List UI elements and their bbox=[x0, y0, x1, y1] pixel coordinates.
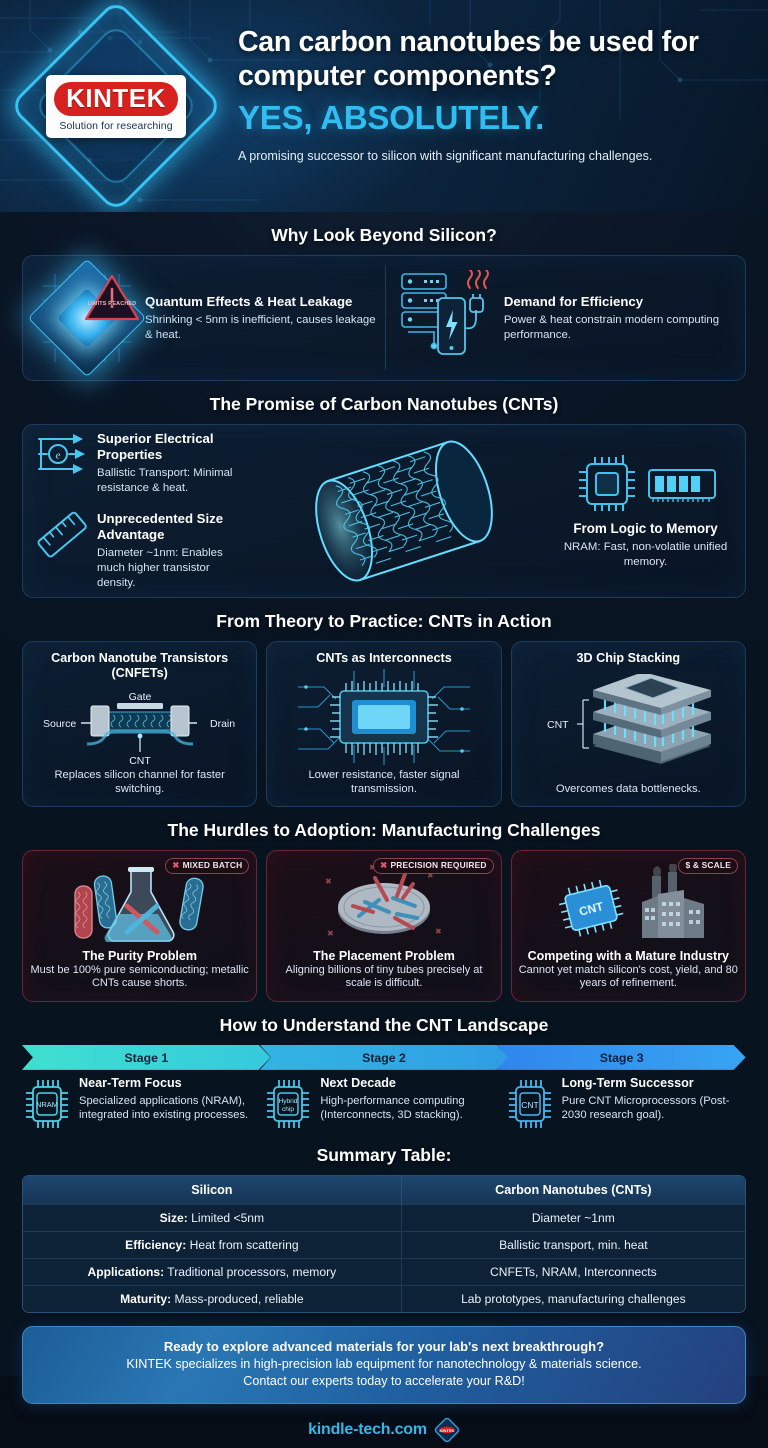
action-stacking-heading: 3D Chip Stacking bbox=[577, 651, 681, 666]
cnfet-label-cnt: CNT bbox=[129, 755, 151, 767]
infographic-page: KINTEK Solution for researching Can carb… bbox=[0, 0, 768, 1376]
flask-and-tubes-icon bbox=[65, 864, 215, 942]
nanotube-3d-render bbox=[289, 436, 519, 586]
hurdle-mature-heading: Competing with a Mature Industry bbox=[528, 949, 729, 964]
hurdle-placement-heading: The Placement Problem bbox=[313, 949, 455, 964]
stage-2-heading: Next Decade bbox=[320, 1076, 497, 1091]
hurdle-card-placement: ✖ PRECISION REQUIRED ✖✖ ✖✖ ✖ bbox=[266, 850, 501, 1002]
svg-text:✖: ✖ bbox=[325, 877, 332, 886]
promise-memory-heading: From Logic to Memory bbox=[558, 521, 733, 537]
stage-2-chip-text-line2: chip bbox=[282, 1106, 294, 1113]
row-value: Traditional processors, memory bbox=[164, 1265, 336, 1279]
why-efficiency-heading: Demand for Efficiency bbox=[504, 294, 733, 310]
hurdle-card-purity: ✖ MIXED BATCH bbox=[22, 850, 257, 1002]
badge-x-icon: ✖ bbox=[380, 861, 387, 871]
table-cell-cnt: CNFETs, NRAM, Interconnects bbox=[401, 1259, 745, 1286]
why-quantum-heading: Quantum Effects & Heat Leakage bbox=[145, 294, 385, 310]
cta-line-1: Ready to explore advanced materials for … bbox=[37, 1338, 731, 1356]
stage-arrow-2: Stage 2 bbox=[260, 1045, 509, 1070]
hurdle-mature-body: Cannot yet match silicon's cost, yield, … bbox=[519, 964, 738, 992]
chip-interconnect-diagram-icon bbox=[294, 667, 474, 767]
kintek-diamond-mark-icon: KINTEK bbox=[434, 1417, 460, 1443]
table-col-silicon: Silicon bbox=[23, 1176, 401, 1205]
hurdle-purity-heading: The Purity Problem bbox=[82, 949, 197, 964]
promise-item-size: Unprecedented Size Advantage Diameter ~1… bbox=[35, 511, 250, 591]
action-stacking-body: Overcomes data bottlenecks. bbox=[556, 782, 701, 796]
svg-text:KINTEK: KINTEK bbox=[439, 1428, 454, 1433]
logo-name: KINTEK bbox=[54, 82, 178, 116]
cpu-and-memory-module-icon bbox=[571, 452, 721, 516]
stages-timeline: Stage 1 Stage 2 Stage 3 bbox=[22, 1045, 746, 1132]
table-cell-silicon: Applications: Traditional processors, me… bbox=[23, 1259, 401, 1286]
action-card-row: Carbon Nanotube Transistors (CNFETs) Sou… bbox=[22, 641, 746, 807]
table-header-row: Silicon Carbon Nanotubes (CNTs) bbox=[23, 1176, 745, 1205]
hurdles-card-row: ✖ MIXED BATCH bbox=[22, 850, 746, 1002]
why-card: LIMITS REACHED Quantum Effects & Heat Le… bbox=[22, 255, 746, 381]
summary-table: Silicon Carbon Nanotubes (CNTs) Size: Li… bbox=[22, 1175, 746, 1313]
row-value: Mass-produced, reliable bbox=[171, 1292, 303, 1306]
chip-and-factory-icon: CNT bbox=[546, 864, 711, 942]
table-row: Applications: Traditional processors, me… bbox=[23, 1259, 745, 1286]
section-title-landscape: How to Understand the CNT Landscape bbox=[0, 1015, 768, 1036]
stage-item-2: Hybrid chip Next Decade High-performance… bbox=[263, 1076, 504, 1132]
header-answer: YES, ABSOLUTELY. bbox=[238, 99, 746, 138]
electron-flow-icon: e bbox=[35, 431, 89, 477]
badge-x-icon: ✖ bbox=[172, 861, 179, 871]
row-label: Size: bbox=[160, 1211, 188, 1225]
badge-label: $ & SCALE bbox=[685, 861, 731, 871]
cnt-chip-icon: CNT bbox=[505, 1076, 555, 1132]
section-title-action: From Theory to Practice: CNTs in Action bbox=[0, 611, 768, 632]
stage-1-label: Stage 1 bbox=[124, 1051, 168, 1065]
cnfet-label-source: Source bbox=[43, 718, 76, 730]
table-col-cnt: Carbon Nanotubes (CNTs) bbox=[401, 1176, 745, 1205]
action-card-cnfet: Carbon Nanotube Transistors (CNFETs) Sou… bbox=[22, 641, 257, 807]
cnfet-label-gate: Gate bbox=[128, 691, 151, 703]
why-item-efficiency: Demand for Efficiency Power & heat const… bbox=[385, 266, 733, 370]
stage-1-heading: Near-Term Focus bbox=[79, 1076, 256, 1091]
hurdle-placement-body: Aligning billions of tiny tubes precisel… bbox=[274, 964, 493, 992]
footer: kindle-tech.com KINTEK bbox=[0, 1417, 768, 1443]
hurdle-badge-cost-scale: $ & SCALE bbox=[678, 858, 738, 874]
stage-2-label: Stage 2 bbox=[362, 1051, 406, 1065]
stage-arrow-3: Stage 3 bbox=[497, 1045, 746, 1070]
nram-chip-icon: NRAM bbox=[22, 1076, 72, 1132]
stacking-label-cnt: CNT bbox=[547, 719, 569, 731]
cta-banner[interactable]: Ready to explore advanced materials for … bbox=[22, 1326, 746, 1404]
stage-item-1: NRAM Near-Term Focus Specialized applica… bbox=[22, 1076, 263, 1132]
section-title-hurdles: The Hurdles to Adoption: Manufacturing C… bbox=[0, 820, 768, 841]
kintek-logo: KINTEK Solution for researching bbox=[46, 75, 186, 138]
header-banner: KINTEK Solution for researching Can carb… bbox=[0, 0, 768, 212]
promise-item-electrical: e Superior Electrical Properties Ballist… bbox=[35, 431, 250, 496]
promise-electrical-heading: Superior Electrical Properties bbox=[97, 431, 250, 463]
row-label: Maturity: bbox=[120, 1292, 171, 1306]
table-cell-silicon: Size: Limited <5nm bbox=[23, 1205, 401, 1232]
warning-label: LIMITS REACHED bbox=[88, 301, 137, 307]
stage-3-chip-text: CNT bbox=[521, 1100, 538, 1110]
stage-3-label: Stage 3 bbox=[600, 1051, 644, 1065]
silicon-chip-warning-icon: LIMITS REACHED bbox=[35, 266, 139, 370]
carbon-nanotube-lattice-art bbox=[250, 436, 558, 586]
table-row: Maturity: Mass-produced, reliable Lab pr… bbox=[23, 1286, 745, 1313]
badge-label: PRECISION REQUIRED bbox=[390, 861, 486, 871]
stage-1-body: Specialized applications (NRAM), integra… bbox=[79, 1094, 256, 1122]
row-label: Applications: bbox=[88, 1265, 165, 1279]
header-question: Can carbon nanotubes be used for compute… bbox=[238, 26, 746, 93]
hurdle-badge-precision-required: ✖ PRECISION REQUIRED bbox=[373, 858, 494, 874]
logo-area: KINTEK Solution for researching bbox=[0, 0, 232, 212]
stage-item-3: CNT Long-Term Successor Pure CNT Micropr… bbox=[505, 1076, 746, 1132]
promise-electrical-body: Ballistic Transport: Minimal resistance … bbox=[97, 466, 250, 496]
table-row: Efficiency: Heat from scattering Ballist… bbox=[23, 1232, 745, 1259]
stage-3-body: Pure CNT Microprocessors (Post-2030 rese… bbox=[562, 1094, 739, 1122]
promise-item-memory: From Logic to Memory NRAM: Fast, non-vol… bbox=[558, 452, 733, 570]
why-efficiency-body: Power & heat constrain modern computing … bbox=[504, 313, 733, 343]
promise-size-body: Diameter ~1nm: Enables much higher trans… bbox=[97, 546, 250, 590]
cnfet-diagram-icon: Source Drain Gate CNT bbox=[35, 682, 245, 768]
table-cell-silicon: Efficiency: Heat from scattering bbox=[23, 1232, 401, 1259]
promise-card: e Superior Electrical Properties Ballist… bbox=[22, 424, 746, 598]
logo-tagline: Solution for researching bbox=[52, 120, 180, 132]
hybrid-chip-icon: Hybrid chip bbox=[263, 1076, 313, 1132]
section-title-why: Why Look Beyond Silicon? bbox=[0, 225, 768, 246]
row-value: Heat from scattering bbox=[186, 1238, 298, 1252]
svg-text:✖: ✖ bbox=[435, 927, 442, 936]
hurdle-card-mature-industry: $ & SCALE CNT bbox=[511, 850, 746, 1002]
action-card-3d-stacking: 3D Chip Stacking CNT bbox=[511, 641, 746, 807]
action-card-interconnects: CNTs as Interconnects bbox=[266, 641, 501, 807]
warning-triangle-icon bbox=[83, 272, 141, 324]
action-interconnect-heading: CNTs as Interconnects bbox=[316, 651, 452, 666]
ruler-icon bbox=[35, 511, 89, 561]
footer-url[interactable]: kindle-tech.com bbox=[308, 1421, 427, 1439]
section-title-summary: Summary Table: bbox=[0, 1145, 768, 1166]
action-cnfet-body: Replaces silicon channel for faster swit… bbox=[30, 768, 249, 796]
server-stack-and-phone bbox=[400, 270, 496, 362]
wafer-scattered-tubes-icon: ✖✖ ✖✖ ✖ bbox=[309, 862, 459, 944]
table-cell-cnt: Diameter ~1nm bbox=[401, 1205, 745, 1232]
stage-3-heading: Long-Term Successor bbox=[562, 1076, 739, 1091]
why-quantum-body: Shrinking < 5nm is inefficient, causes l… bbox=[145, 313, 385, 343]
svg-text:✖: ✖ bbox=[327, 929, 334, 938]
server-phone-power-icon bbox=[400, 270, 496, 367]
action-interconnect-body: Lower resistance, faster signal transmis… bbox=[274, 768, 493, 796]
row-value: Limited <5nm bbox=[188, 1211, 264, 1225]
stage-1-chip-text: NRAM bbox=[36, 1100, 58, 1109]
stage-2-body: High-performance computing (Interconnect… bbox=[320, 1094, 497, 1122]
stage-2-chip-text-line1: Hybrid bbox=[279, 1098, 298, 1105]
table-cell-cnt: Lab prototypes, manufacturing challenges bbox=[401, 1286, 745, 1313]
stage-arrow-1: Stage 1 bbox=[22, 1045, 271, 1070]
3d-stacked-chip-diagram-icon: CNT bbox=[533, 674, 723, 774]
section-title-promise: The Promise of Carbon Nanotubes (CNTs) bbox=[0, 394, 768, 415]
promise-memory-body: NRAM: Fast, non-volatile unified memory. bbox=[558, 540, 733, 570]
promise-size-heading: Unprecedented Size Advantage bbox=[97, 511, 250, 543]
table-cell-cnt: Ballistic transport, min. heat bbox=[401, 1232, 745, 1259]
hurdle-purity-body: Must be 100% pure semiconducting; metall… bbox=[30, 964, 249, 992]
row-label: Efficiency: bbox=[125, 1238, 186, 1252]
svg-text:e: e bbox=[56, 450, 61, 462]
cnfet-label-drain: Drain bbox=[210, 718, 235, 730]
cta-line-2: KINTEK specializes in high-precision lab… bbox=[37, 1356, 731, 1374]
table-cell-silicon: Maturity: Mass-produced, reliable bbox=[23, 1286, 401, 1313]
action-cnfet-heading: Carbon Nanotube Transistors (CNFETs) bbox=[30, 651, 249, 681]
why-item-quantum: LIMITS REACHED Quantum Effects & Heat Le… bbox=[35, 266, 385, 370]
limits-reached-warning: LIMITS REACHED bbox=[83, 272, 141, 324]
table-row: Size: Limited <5nm Diameter ~1nm bbox=[23, 1205, 745, 1232]
hurdle-badge-mixed-batch: ✖ MIXED BATCH bbox=[165, 858, 249, 874]
header-subtitle: A promising successor to silicon with si… bbox=[238, 148, 746, 164]
badge-label: MIXED BATCH bbox=[183, 861, 243, 871]
